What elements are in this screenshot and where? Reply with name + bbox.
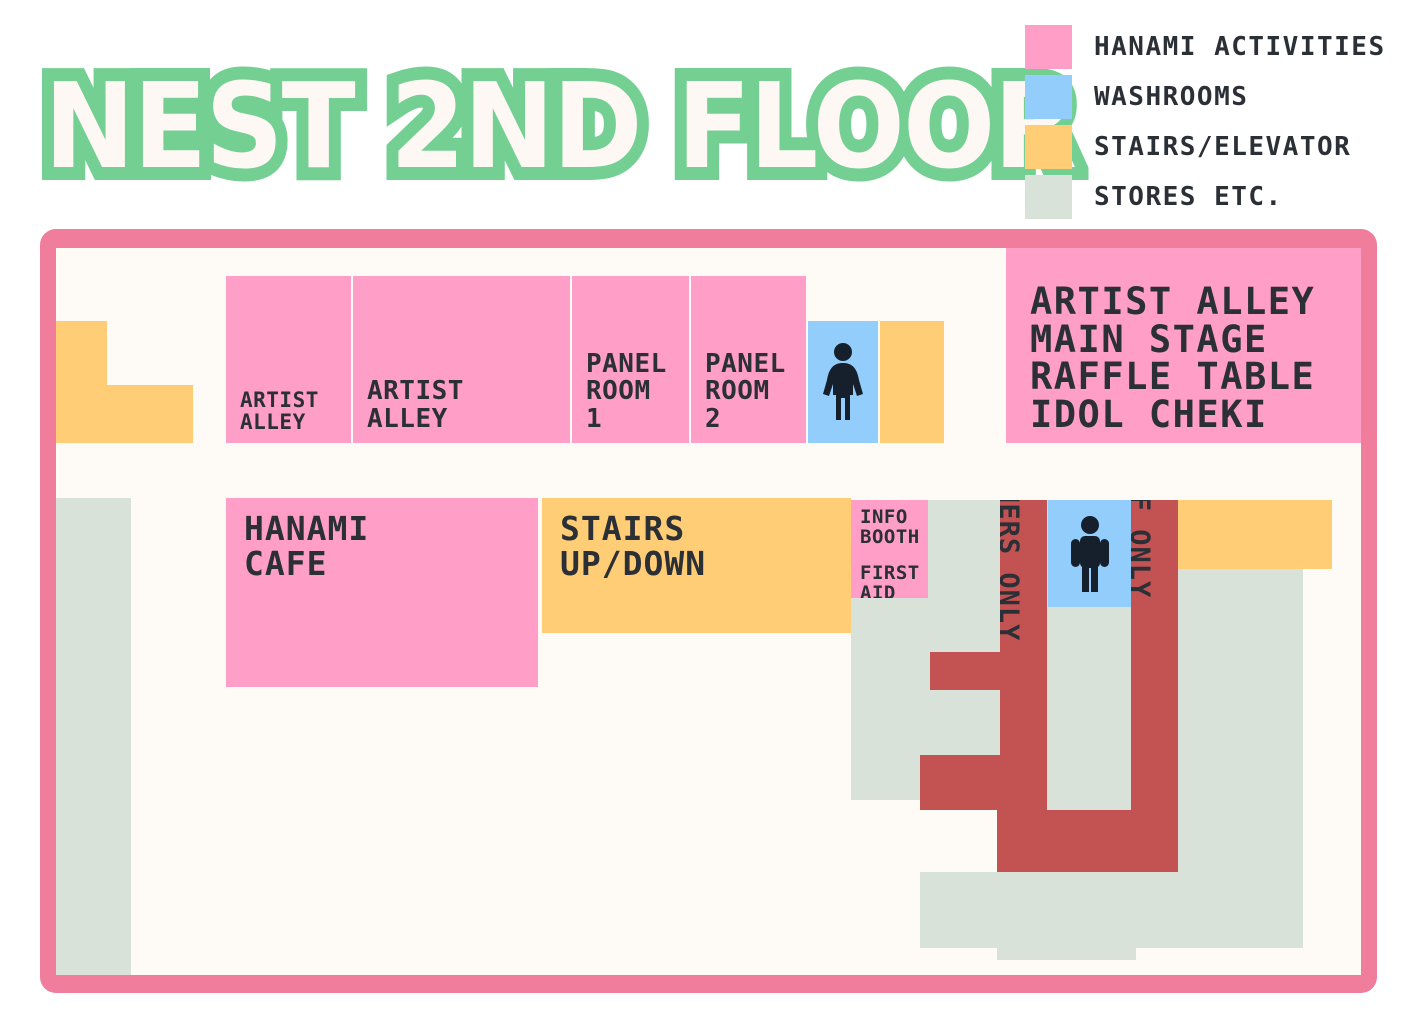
- room-label-main-block: ARTIST ALLEY MAIN STAGE RAFFLE TABLE IDO…: [1030, 283, 1315, 434]
- man-washroom-icon: [1068, 515, 1112, 593]
- restricted-performers-arm-upper: [930, 652, 1000, 690]
- room-label-artist-alley-2: ARTIST ALLEY: [367, 378, 464, 433]
- legend-item-hanami: HANAMI ACTIVITIES: [1025, 22, 1405, 72]
- legend-label-washrooms: WASHROOMS: [1094, 82, 1248, 112]
- title-block: NEST 2ND FLOOR: [44, 36, 894, 216]
- legend-swatch-washrooms: [1025, 75, 1072, 119]
- stairs-elevator-right: [1178, 500, 1332, 569]
- legend-item-washrooms: WASHROOMS: [1025, 72, 1405, 122]
- room-label-artist-alley-1: ARTIST ALLEY: [240, 389, 319, 433]
- legend-label-hanami: HANAMI ACTIVITIES: [1094, 32, 1386, 62]
- legend-swatch-stairs: [1025, 125, 1072, 169]
- legend-item-stores: STORES ETC.: [1025, 172, 1405, 222]
- restricted-performers-arm-lower: [920, 755, 1000, 810]
- woman-washroom-icon: [821, 342, 865, 422]
- room-label-first-aid: FIRST AID: [860, 564, 920, 598]
- room-stairs-up-down[interactable]: STAIRS UP/DOWN: [542, 498, 851, 633]
- room-artist-alley-2[interactable]: ARTIST ALLEY: [353, 276, 570, 443]
- room-artist-alley-1[interactable]: ARTIST ALLEY: [226, 276, 351, 443]
- stairs-elevator-left-upper: [56, 321, 107, 385]
- room-panel-room-2[interactable]: PANEL ROOM 2: [691, 276, 806, 443]
- page-title: NEST 2ND FLOOR: [44, 36, 826, 216]
- room-label-panel-room-1: PANEL ROOM 1: [586, 351, 667, 433]
- room-panel-room-1[interactable]: PANEL ROOM 1: [572, 276, 689, 443]
- store-left: [56, 498, 131, 975]
- stairs-elevator-top: [880, 321, 944, 443]
- legend-swatch-hanami: [1025, 25, 1072, 69]
- legend: HANAMI ACTIVITIES WASHROOMS STAIRS/ELEVA…: [1025, 22, 1405, 222]
- floor-map-canvas: ARTIST ALLEY ARTIST ALLEY PANEL ROOM 1 P…: [56, 248, 1361, 975]
- legend-swatch-stores: [1025, 175, 1072, 219]
- store-bottom: [920, 872, 1303, 948]
- legend-label-stairs: STAIRS/ELEVATOR: [1094, 132, 1351, 162]
- stairs-elevator-left-lower: [56, 385, 193, 443]
- room-main-block[interactable]: ARTIST ALLEY MAIN STAGE RAFFLE TABLE IDO…: [1006, 248, 1361, 443]
- room-label-performers-only: PERFORMERS ONLY: [1000, 500, 1024, 641]
- floor-map-frame: ARTIST ALLEY ARTIST ALLEY PANEL ROOM 1 P…: [40, 229, 1377, 993]
- room-label-staff-only: STAFF ONLY: [1131, 500, 1155, 598]
- room-washroom-men[interactable]: [1048, 500, 1131, 607]
- room-label-hanami-cafe: HANAMI CAFE: [244, 512, 369, 581]
- room-info-booth-first-aid[interactable]: INFO BOOTH FIRST AID: [851, 500, 928, 598]
- room-performers-only[interactable]: PERFORMERS ONLY: [1000, 500, 1047, 872]
- room-label-info-booth: INFO BOOTH: [860, 508, 920, 548]
- legend-label-stores: STORES ETC.: [1094, 182, 1283, 212]
- legend-item-stairs: STAIRS/ELEVATOR: [1025, 122, 1405, 172]
- room-staff-only[interactable]: STAFF ONLY: [1131, 500, 1178, 872]
- room-label-stairs-up-down: STAIRS UP/DOWN: [560, 512, 706, 581]
- room-washroom-women[interactable]: [808, 321, 878, 443]
- room-label-panel-room-2: PANEL ROOM 2: [705, 351, 786, 433]
- room-hanami-cafe[interactable]: HANAMI CAFE: [226, 498, 538, 687]
